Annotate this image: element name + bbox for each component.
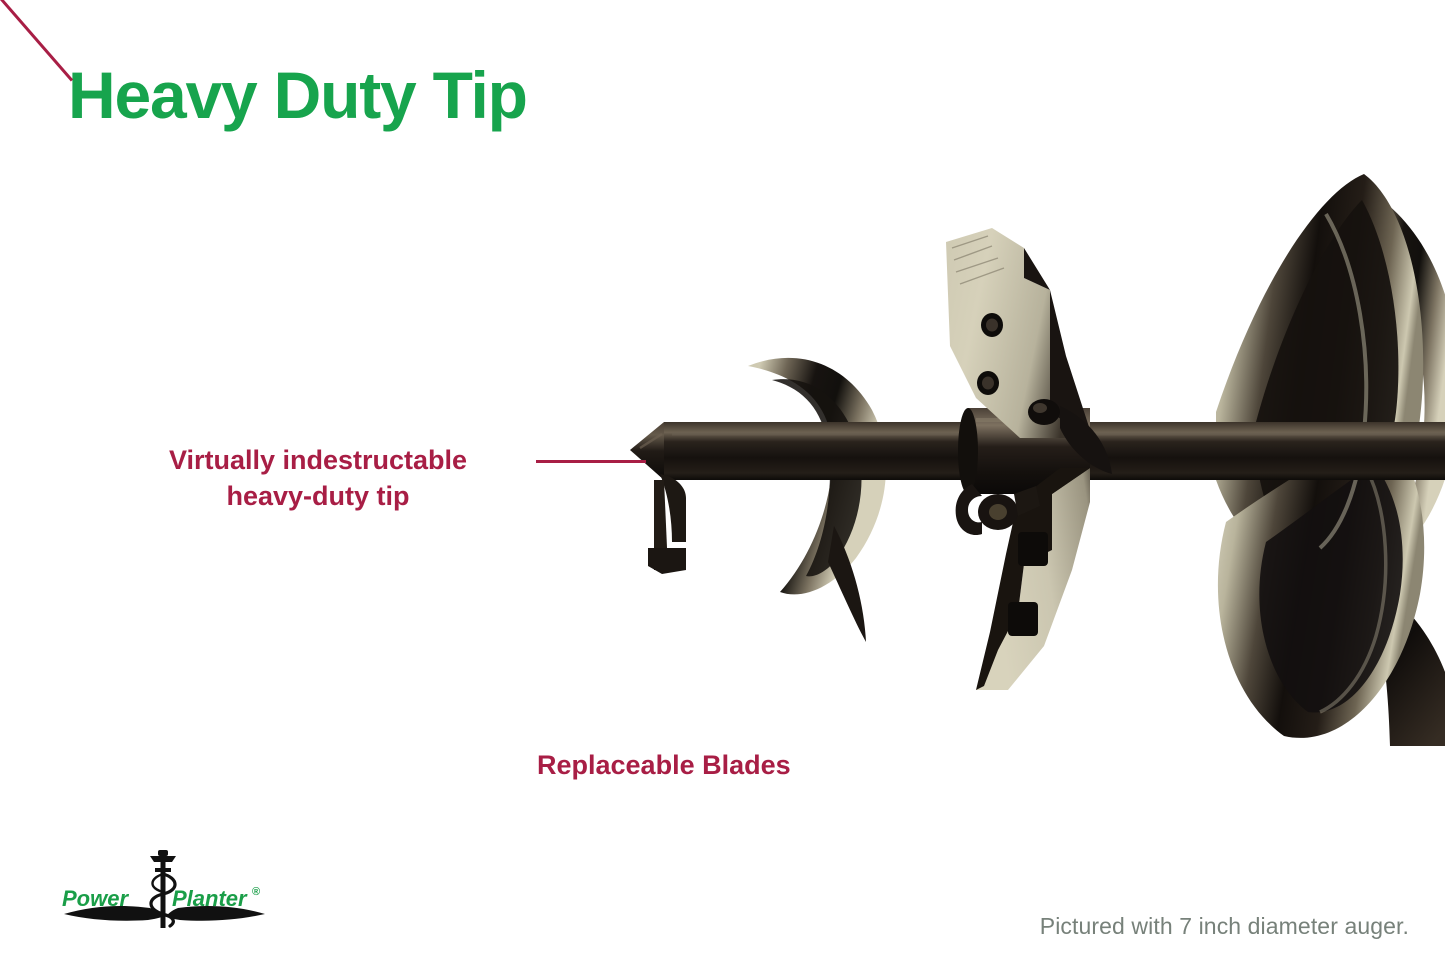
- callout-tip-line1: Virtually indestructable: [112, 443, 524, 479]
- footer-caption: Pictured with 7 inch diameter auger.: [1040, 913, 1409, 940]
- auger-illustration: [620, 150, 1445, 750]
- blade-bolt-recess: [1008, 602, 1038, 636]
- logo-word-power: Power: [62, 886, 129, 911]
- leader-line-blades: [0, 0, 3, 96]
- leader-line-tip: [536, 460, 646, 463]
- brand-logo: Power Planter ®: [62, 848, 267, 930]
- replaceable-blade-upper: [946, 228, 1090, 438]
- leader-line-blades-stroke: [0, 0, 73, 82]
- logo-registered-icon: ®: [252, 886, 260, 898]
- callout-heavy-duty-tip: Virtually indestructable heavy-duty tip: [112, 443, 524, 514]
- auger-flight-front: [748, 358, 886, 642]
- blade-bolt-recess: [1018, 532, 1048, 566]
- page-title: Heavy Duty Tip: [68, 62, 527, 128]
- callout-tip-line2: heavy-duty tip: [112, 479, 524, 515]
- promo-graphic-page: Heavy Duty Tip: [0, 0, 1445, 964]
- callout-replaceable-blades: Replaceable Blades: [537, 748, 889, 784]
- logo-word-planter: Planter: [172, 886, 248, 911]
